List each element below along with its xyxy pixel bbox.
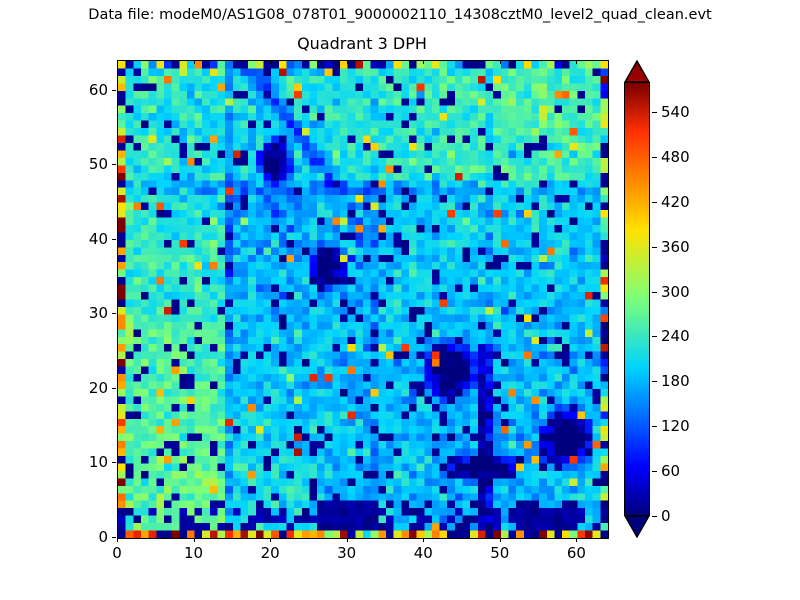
- x-tick-mark: [423, 538, 424, 542]
- x-tick-mark-top: [194, 60, 195, 64]
- data-file-title: Data file: modeM0/AS1G08_078T01_90000021…: [0, 5, 800, 25]
- y-tick-label: 50: [48, 155, 108, 173]
- x-tick-mark-top: [500, 60, 501, 64]
- colorbar-tick-label: 240: [661, 327, 690, 345]
- x-tick-mark: [576, 538, 577, 542]
- heatmap-axes[interactable]: [117, 60, 609, 539]
- x-tick-label: 10: [164, 544, 224, 562]
- colorbar[interactable]: [624, 60, 652, 538]
- colorbar-tick-label: 480: [661, 148, 690, 166]
- figure-canvas: Data file: modeM0/AS1G08_078T01_90000021…: [0, 0, 800, 600]
- colorbar-tick-label: 60: [661, 462, 680, 480]
- colorbar-tick-mark: [652, 202, 657, 203]
- y-tick-mark: [112, 239, 116, 240]
- x-tick-label: 0: [87, 544, 147, 562]
- x-tick-label: 50: [470, 544, 530, 562]
- y-tick-mark: [112, 90, 116, 91]
- colorbar-over-arrow-icon: [624, 60, 652, 82]
- x-tick-mark-top: [576, 60, 577, 64]
- colorbar-tick-mark: [652, 336, 657, 337]
- y-tick-label: 60: [48, 81, 108, 99]
- x-tick-mark: [194, 538, 195, 542]
- x-tick-mark: [500, 538, 501, 542]
- x-tick-label: 60: [546, 544, 606, 562]
- colorbar-tick-mark: [652, 426, 657, 427]
- x-tick-mark: [270, 538, 271, 542]
- colorbar-tick-mark: [652, 471, 657, 472]
- x-tick-mark: [347, 538, 348, 542]
- colorbar-tick-label: 120: [661, 417, 690, 435]
- x-tick-label: 20: [240, 544, 300, 562]
- x-tick-mark-top: [347, 60, 348, 64]
- colorbar-tick-mark: [652, 292, 657, 293]
- y-tick-mark: [112, 164, 116, 165]
- y-tick-mark: [112, 462, 116, 463]
- colorbar-tick-mark: [652, 381, 657, 382]
- x-tick-label: 40: [393, 544, 453, 562]
- y-tick-label: 20: [48, 379, 108, 397]
- y-tick-mark: [112, 388, 116, 389]
- colorbar-tick-mark: [652, 516, 657, 517]
- x-tick-mark: [117, 538, 118, 542]
- colorbar-tick-mark: [652, 247, 657, 248]
- colorbar-tick-label: 0: [661, 507, 671, 525]
- page-title: Quadrant 3 DPH: [117, 33, 607, 55]
- x-tick-mark-top: [117, 60, 118, 64]
- y-tick-label: 0: [48, 528, 108, 546]
- x-tick-label: 30: [317, 544, 377, 562]
- y-tick-mark: [112, 313, 116, 314]
- y-tick-label: 40: [48, 230, 108, 248]
- colorbar-under-arrow-icon: [624, 516, 652, 538]
- colorbar-tick-label: 300: [661, 283, 690, 301]
- colorbar-tick-label: 360: [661, 238, 690, 256]
- colorbar-tick-mark: [652, 112, 657, 113]
- colorbar-gradient[interactable]: [624, 82, 650, 516]
- y-tick-label: 10: [48, 453, 108, 471]
- x-tick-mark-top: [423, 60, 424, 64]
- heatmap-image[interactable]: [118, 61, 608, 538]
- colorbar-tick-mark: [652, 157, 657, 158]
- y-tick-mark: [112, 537, 116, 538]
- colorbar-tick-label: 420: [661, 193, 690, 211]
- colorbar-tick-label: 540: [661, 103, 690, 121]
- x-tick-mark-top: [270, 60, 271, 64]
- colorbar-tick-label: 180: [661, 372, 690, 390]
- y-tick-label: 30: [48, 304, 108, 322]
